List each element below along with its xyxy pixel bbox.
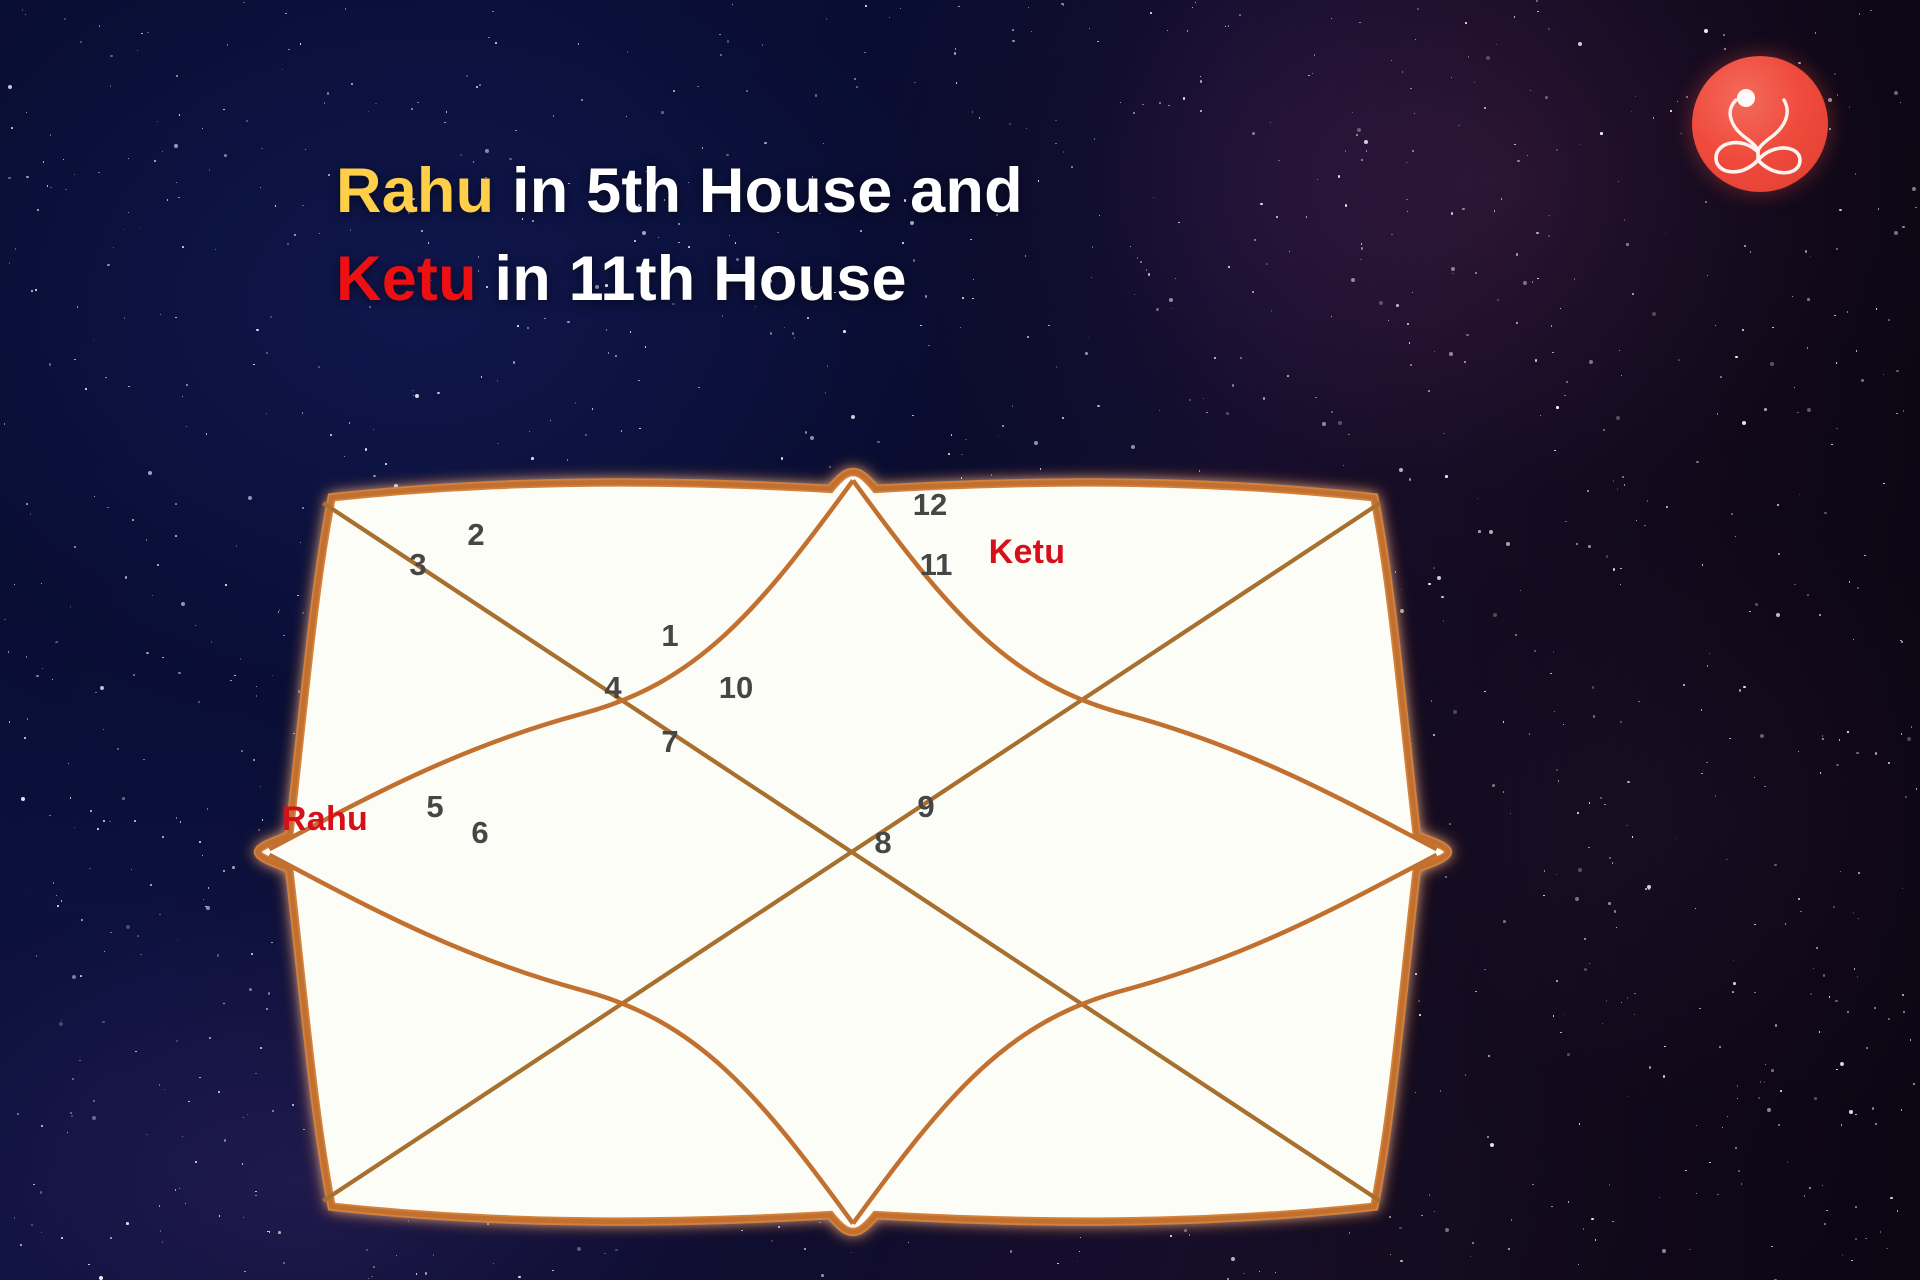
page-title: Rahu in 5th House and Ketu in 11th House [336, 150, 1536, 321]
house-number-10: 10 [714, 670, 758, 706]
house-number-4: 4 [591, 670, 635, 706]
house-number-12: 12 [908, 487, 952, 523]
brand-logo[interactable] [1692, 56, 1828, 192]
birth-chart: 123456789101112RahuKetu [258, 472, 1448, 1232]
planet-label-rahu: Rahu [265, 800, 385, 839]
chart-svg [258, 472, 1448, 1232]
stethoscope-infinity-icon [1692, 56, 1828, 192]
house-number-6: 6 [458, 815, 502, 851]
planet-label-ketu: Ketu [967, 533, 1087, 572]
house-number-11: 11 [914, 547, 958, 583]
house-number-7: 7 [648, 724, 692, 760]
title-line-1: Rahu in 5th House and [336, 150, 1536, 233]
house-number-5: 5 [413, 789, 457, 825]
house-number-8: 8 [861, 825, 905, 861]
house-number-9: 9 [904, 789, 948, 825]
title-word-rahu: Rahu [336, 156, 494, 226]
title-line-2-rest: in 11th House [477, 244, 907, 314]
title-word-ketu: Ketu [336, 244, 477, 314]
house-number-1: 1 [648, 618, 692, 654]
house-number-3: 3 [396, 547, 440, 583]
title-line-2: Ketu in 11th House [336, 238, 1536, 321]
page-root: Rahu in 5th House and Ketu in 11th House [0, 0, 1920, 1280]
title-line-1-rest: in 5th House and [494, 156, 1022, 226]
house-number-2: 2 [454, 517, 498, 553]
